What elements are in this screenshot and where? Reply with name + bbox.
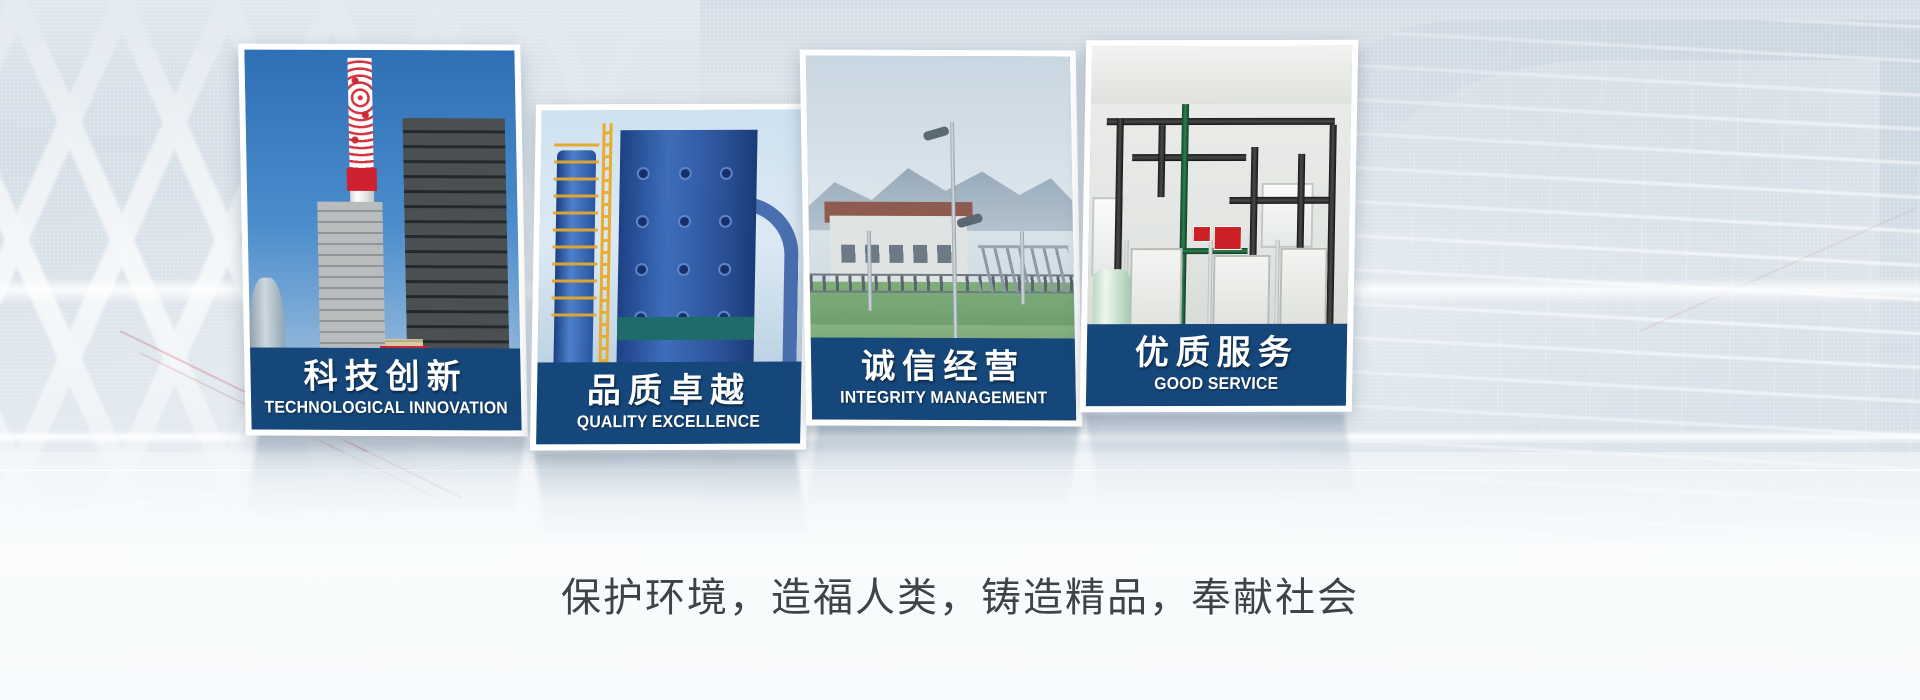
card-title-en: TECHNOLOGICAL INNOVATION [264,399,508,419]
card-label-bar: 品质卓越 QUALITY EXCELLENCE [536,362,801,445]
feature-card-quality-excellence[interactable]: 品质卓越 QUALITY EXCELLENCE [530,104,812,451]
banner-stage: 科技创新 TECHNOLOGICAL INNOVATION 品质卓越 [0,0,1920,700]
card-photo: 科技创新 TECHNOLOGICAL INNOVATION [244,50,521,431]
photo-warning-sign [1193,226,1211,242]
feature-card-integrity-management[interactable]: 诚信经营 INTEGRITY MANAGEMENT [800,50,1083,427]
photo-teal-band [617,317,755,341]
photo-chimney-band [346,168,376,191]
card-title-zh: 诚信经营 [815,348,1072,387]
card-title-zh: 品质卓越 [541,372,798,411]
card-title-zh: 优质服务 [1090,334,1343,373]
card-label-bar: 诚信经营 INTEGRITY MANAGEMENT [811,338,1076,421]
banner-tagline: 保护环境，造福人类，铸造精品，奉献社会 [0,565,1920,623]
card-title-en: QUALITY EXCELLENCE [549,413,787,433]
card-title-en: GOOD SERVICE [1099,375,1334,394]
photo-window [1260,183,1313,248]
photo-chimney-pattern [347,58,373,172]
photo-windows [841,245,957,264]
photo-safety-cage [551,144,599,331]
card-label-bar: 优质服务 GOOD SERVICE [1086,324,1347,406]
photo-pipe [1132,154,1247,161]
card-photo: 诚信经营 INTEGRITY MANAGEMENT [806,56,1076,421]
card-label-bar: 科技创新 TECHNOLOGICAL INNOVATION [250,348,522,431]
photo-pipe [1157,125,1165,197]
feature-card-good-service[interactable]: 优质服务 GOOD SERVICE [1080,40,1359,412]
background-floor-line [0,470,1920,471]
photo-pipe [1106,118,1335,125]
card-photo: 品质卓越 QUALITY EXCELLENCE [536,110,806,445]
card-title-en: INTEGRITY MANAGEMENT [825,389,1063,409]
photo-ceiling [1091,46,1352,104]
photo-pipe [1230,197,1334,204]
feature-card-technological-innovation[interactable]: 科技创新 TECHNOLOGICAL INNOVATION [238,44,528,437]
photo-warning-sign [1213,226,1241,250]
card-title-zh: 科技创新 [254,358,517,397]
card-photo: 优质服务 GOOD SERVICE [1086,46,1352,406]
